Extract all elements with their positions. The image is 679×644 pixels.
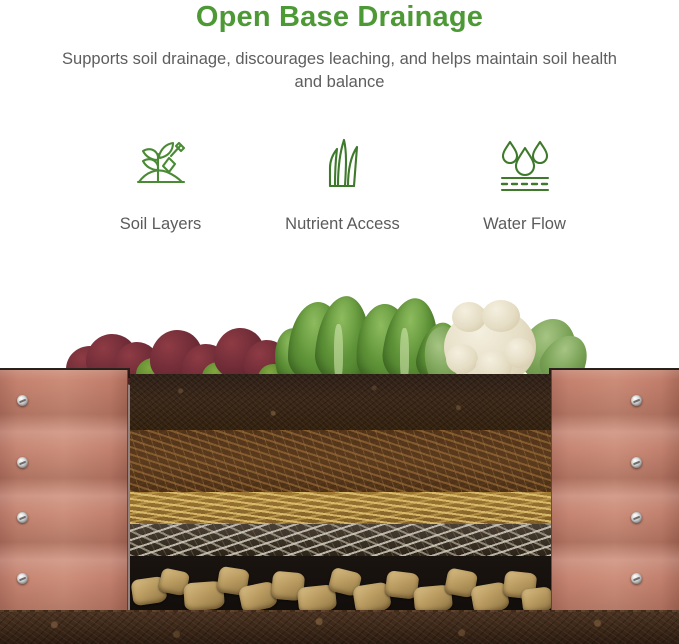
feature-label-soil-layers: Soil Layers (120, 212, 202, 237)
ground-soil (0, 612, 679, 644)
raised-garden-bed-illustration (0, 290, 679, 644)
soil-layer-logs-wood-chunks (130, 556, 551, 616)
header: Open Base Drainage Supports soil drainag… (0, 0, 679, 94)
soil-layer-straw (130, 492, 551, 524)
page-title: Open Base Drainage (0, 0, 679, 34)
feature-nutrient-access: Nutrient Access (254, 132, 432, 237)
product-feature-panel: Open Base Drainage Supports soil drainag… (0, 0, 679, 644)
screw (631, 395, 642, 406)
screw (631, 512, 642, 523)
feature-soil-layers: Soil Layers (72, 132, 250, 237)
screw (17, 457, 28, 468)
feature-list: Soil Layers Nutrient Access (0, 132, 679, 237)
grass-blades-icon (315, 132, 371, 194)
screw (17, 573, 28, 584)
soil-layer-sticks-twigs (130, 524, 551, 556)
screw (17, 395, 28, 406)
plant-shovel-icon (130, 132, 192, 194)
feature-label-water-flow: Water Flow (483, 212, 566, 237)
soil-cross-section (130, 374, 551, 616)
screw (631, 573, 642, 584)
bed-panel-right (551, 370, 679, 616)
screw (17, 512, 28, 523)
bed-panel-left (0, 370, 128, 616)
water-droplets-icon (492, 132, 558, 194)
feature-label-nutrient-access: Nutrient Access (285, 212, 400, 237)
soil-layer-topsoil-compost (130, 374, 551, 430)
soil-layer-mulch-bark (130, 430, 551, 492)
feature-water-flow: Water Flow (436, 132, 614, 237)
page-subtitle: Supports soil drainage, discourages leac… (60, 34, 620, 94)
screw (631, 457, 642, 468)
